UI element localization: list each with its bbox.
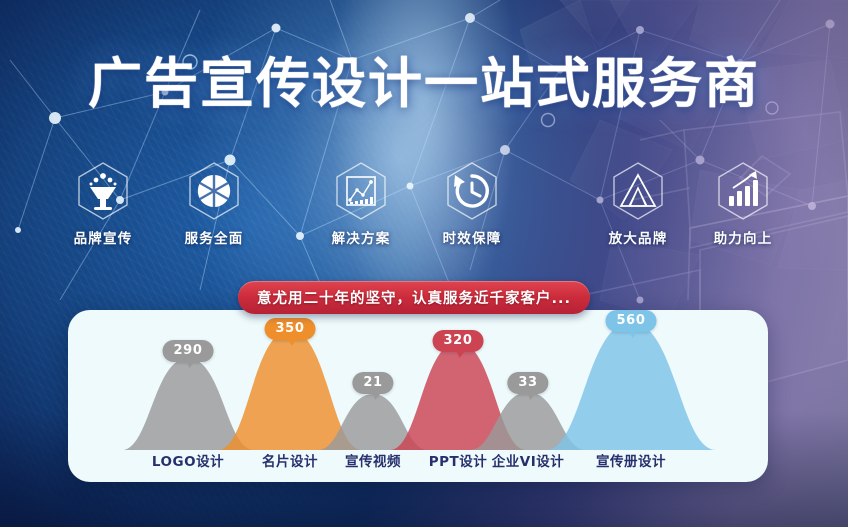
value-bubble-body: 33 [507, 372, 548, 394]
feature-label: 服务全面 [168, 227, 260, 247]
feature-item-brand-promotion[interactable]: 品牌宣传 [57, 160, 149, 247]
bubble-tail [288, 337, 299, 346]
category-label: 企业VI设计 [492, 450, 564, 470]
bubble-tail [456, 349, 467, 358]
triangle-amplify-icon [607, 160, 669, 222]
bubble-tail [629, 329, 640, 338]
category-axis-labels: LOGO设计 名片设计 宣传视频 PPT设计 企业VI设计 宣传册设计 [68, 450, 768, 472]
category-label: LOGO设计 [152, 450, 224, 470]
value-bubble-body: 290 [163, 340, 214, 362]
curve-宣传册设计 [546, 322, 716, 450]
value-bubble-text: 560 [617, 313, 646, 328]
bubble-tail [186, 359, 197, 368]
value-bubble-text: 290 [174, 343, 203, 358]
hex-frame [72, 160, 134, 222]
feature-label: 助力向上 [697, 227, 789, 247]
category-label: 宣传册设计 [596, 450, 666, 470]
chart-analysis-icon [330, 160, 392, 222]
hex-frame [330, 160, 392, 222]
feature-label: 解决方案 [315, 227, 407, 247]
value-bubble: 21 [352, 372, 393, 394]
feature-item-amplify-brand[interactable]: 放大品牌 [592, 160, 684, 247]
feature-label: 放大品牌 [592, 227, 684, 247]
statistics-card: 290 350 21 320 33 [68, 310, 768, 482]
value-bubble: 33 [507, 372, 548, 394]
value-bubble-text: 350 [276, 321, 305, 336]
value-bubble: 320 [433, 330, 484, 352]
category-label: 名片设计 [262, 450, 318, 470]
tagline-text: 意尤用二十年的坚守，认真服务近千家客户... [257, 287, 571, 308]
value-bubble-text: 21 [363, 375, 382, 390]
value-bubble-text: 33 [518, 375, 537, 390]
value-bubble: 350 [265, 318, 316, 340]
tagline-ribbon: 意尤用二十年的坚守，认真服务近千家客户... [238, 281, 590, 314]
megaphone-brand-icon [72, 160, 134, 222]
value-bubble: 560 [606, 310, 657, 332]
value-bubble-body: 320 [433, 330, 484, 352]
curve-LOGO设计 [122, 358, 254, 450]
feature-item-timeliness[interactable]: 时效保障 [426, 160, 518, 247]
category-label: PPT设计 [429, 450, 488, 470]
feature-icon-row: 品牌宣传 服务全面 [0, 160, 848, 248]
promo-banner: 广告宣传设计一站式服务商 [0, 0, 848, 527]
value-bubble-body: 560 [606, 310, 657, 332]
bubble-tail [526, 391, 537, 400]
hex-frame [441, 160, 503, 222]
hex-frame [183, 160, 245, 222]
category-label: 宣传视频 [345, 450, 401, 470]
feature-item-full-service[interactable]: 服务全面 [168, 160, 260, 247]
feature-item-solution[interactable]: 解决方案 [315, 160, 407, 247]
feature-item-boost-upward[interactable]: 助力向上 [697, 160, 789, 247]
value-bubble-text: 320 [444, 333, 473, 348]
clock-history-icon [441, 160, 503, 222]
value-bubble-body: 21 [352, 372, 393, 394]
hex-frame [712, 160, 774, 222]
value-bubble: 290 [163, 340, 214, 362]
feature-label: 时效保障 [426, 227, 518, 247]
page-title: 广告宣传设计一站式服务商 [0, 57, 848, 111]
feature-label: 品牌宣传 [57, 227, 149, 247]
value-bubble-body: 350 [265, 318, 316, 340]
bar-growth-arrow-icon [712, 160, 774, 222]
bubble-tail [371, 391, 382, 400]
hex-frame [607, 160, 669, 222]
aperture-icon [183, 160, 245, 222]
